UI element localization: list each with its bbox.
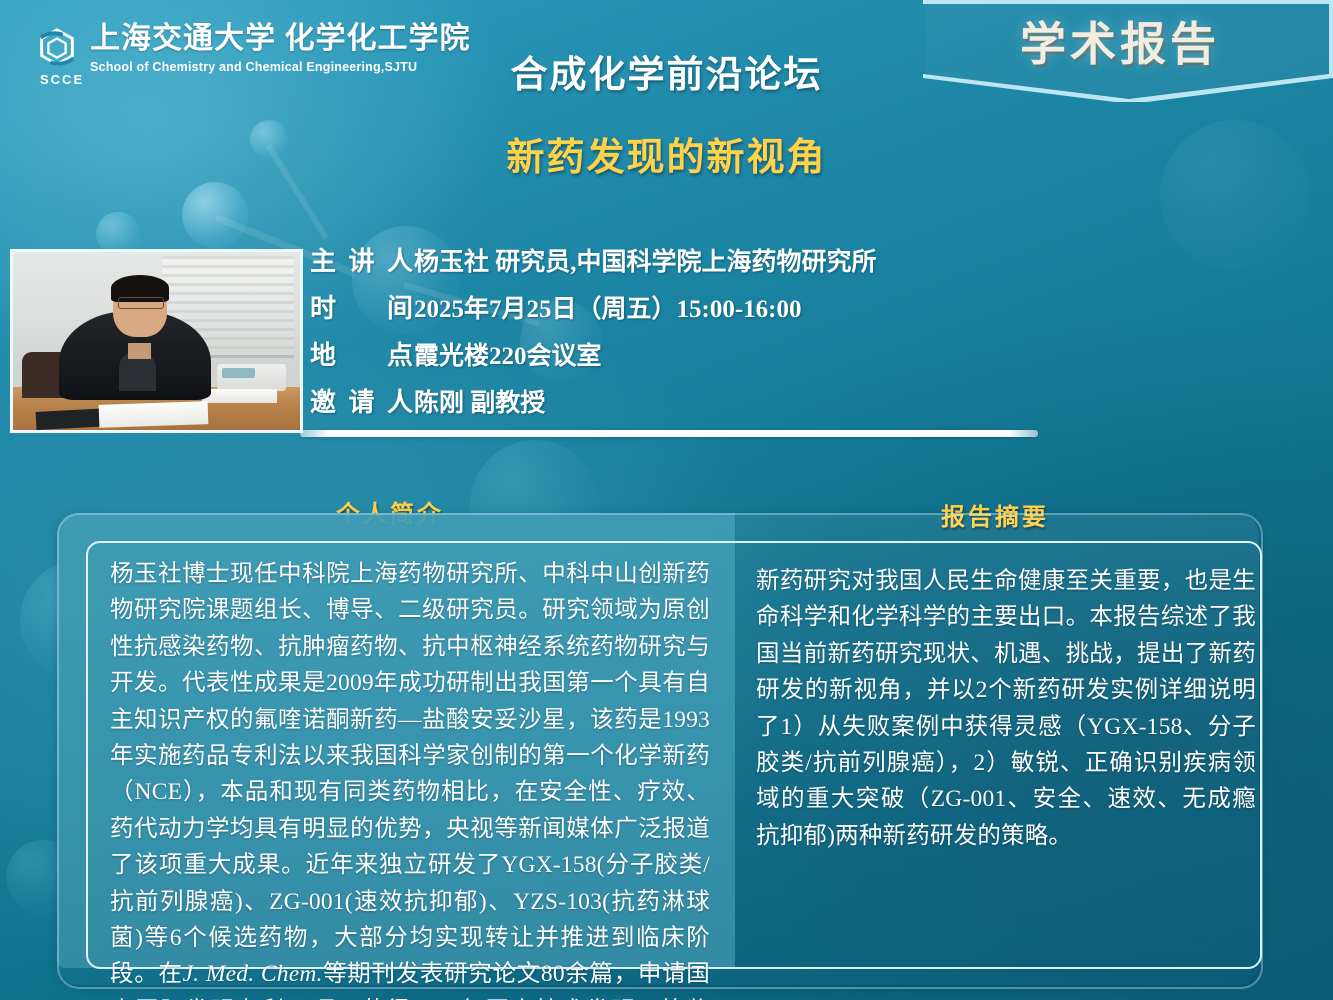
info-row-location: 地 点 霞光楼220会议室 xyxy=(310,335,1070,382)
label-char: 主 xyxy=(310,241,337,278)
logo-abbreviation: SCCE xyxy=(40,72,84,87)
info-label-host: 邀 请 人 xyxy=(310,382,414,419)
event-info-block: 主 讲 人 杨玉社 研究员,中国科学院上海药物研究所 时 间 2025年7月25… xyxy=(310,241,1070,429)
decor-bubble xyxy=(1160,120,1310,270)
label-char: 点 xyxy=(387,335,414,372)
horizontal-divider xyxy=(300,430,1038,437)
photo-telephone xyxy=(217,364,286,391)
label-char: 间 xyxy=(387,288,414,325)
photo-person-neck xyxy=(128,343,151,359)
bio-text-part1: 杨玉社博士现任中科院上海药物研究所、中科中山创新药物研究院课题组长、博导、二级研… xyxy=(110,561,710,987)
seminar-poster: 上海交通大学 化学化工学院 School of Chemistry and Ch… xyxy=(0,0,1333,1000)
label-char: 时 xyxy=(310,288,337,325)
decor-bubble xyxy=(182,182,248,248)
label-char: 邀 xyxy=(310,382,337,419)
info-row-time: 时 间 2025年7月25日（周五）15:00-16:00 xyxy=(310,288,1070,335)
photo-papers xyxy=(99,401,209,428)
info-label-time: 时 间 xyxy=(310,288,414,325)
photo-person-glasses xyxy=(118,297,164,309)
label-char: 地 xyxy=(310,335,337,372)
bio-text: 杨玉社博士现任中科院上海药物研究所、中科中山创新药物研究院课题组长、博导、二级研… xyxy=(110,556,710,1000)
info-label-speaker: 主 讲 人 xyxy=(310,241,414,278)
speaker-photo xyxy=(10,249,303,433)
info-value-speaker: 杨玉社 研究员,中国科学院上海药物研究所 xyxy=(414,242,877,278)
academic-report-ribbon: 学术报告 xyxy=(923,0,1333,102)
scce-hexagon-icon xyxy=(34,26,80,72)
talk-title: 新药发现的新视角 xyxy=(227,126,1107,181)
info-row-speaker: 主 讲 人 杨玉社 研究员,中国科学院上海药物研究所 xyxy=(310,241,1070,288)
ribbon-label: 学术报告 xyxy=(923,8,1317,74)
label-char: 人 xyxy=(387,382,414,419)
bio-text-journal: J. Med. Chem. xyxy=(183,961,323,987)
info-label-location: 地 点 xyxy=(310,335,414,372)
photo-papers-right xyxy=(202,389,277,403)
label-char: 请 xyxy=(348,382,375,419)
info-value-time: 2025年7月25日（周五）15:00-16:00 xyxy=(414,289,801,325)
abstract-text: 新药研究对我国人民生命健康至关重要，也是生命科学和化学科学的主要出口。本报告综述… xyxy=(756,563,1256,854)
label-char: 人 xyxy=(387,241,414,278)
info-value-location: 霞光楼220会议室 xyxy=(414,336,602,372)
label-char: 讲 xyxy=(348,241,375,278)
info-value-host: 陈刚 副教授 xyxy=(414,383,545,419)
info-row-host: 邀 请 人 陈刚 副教授 xyxy=(310,382,1070,429)
